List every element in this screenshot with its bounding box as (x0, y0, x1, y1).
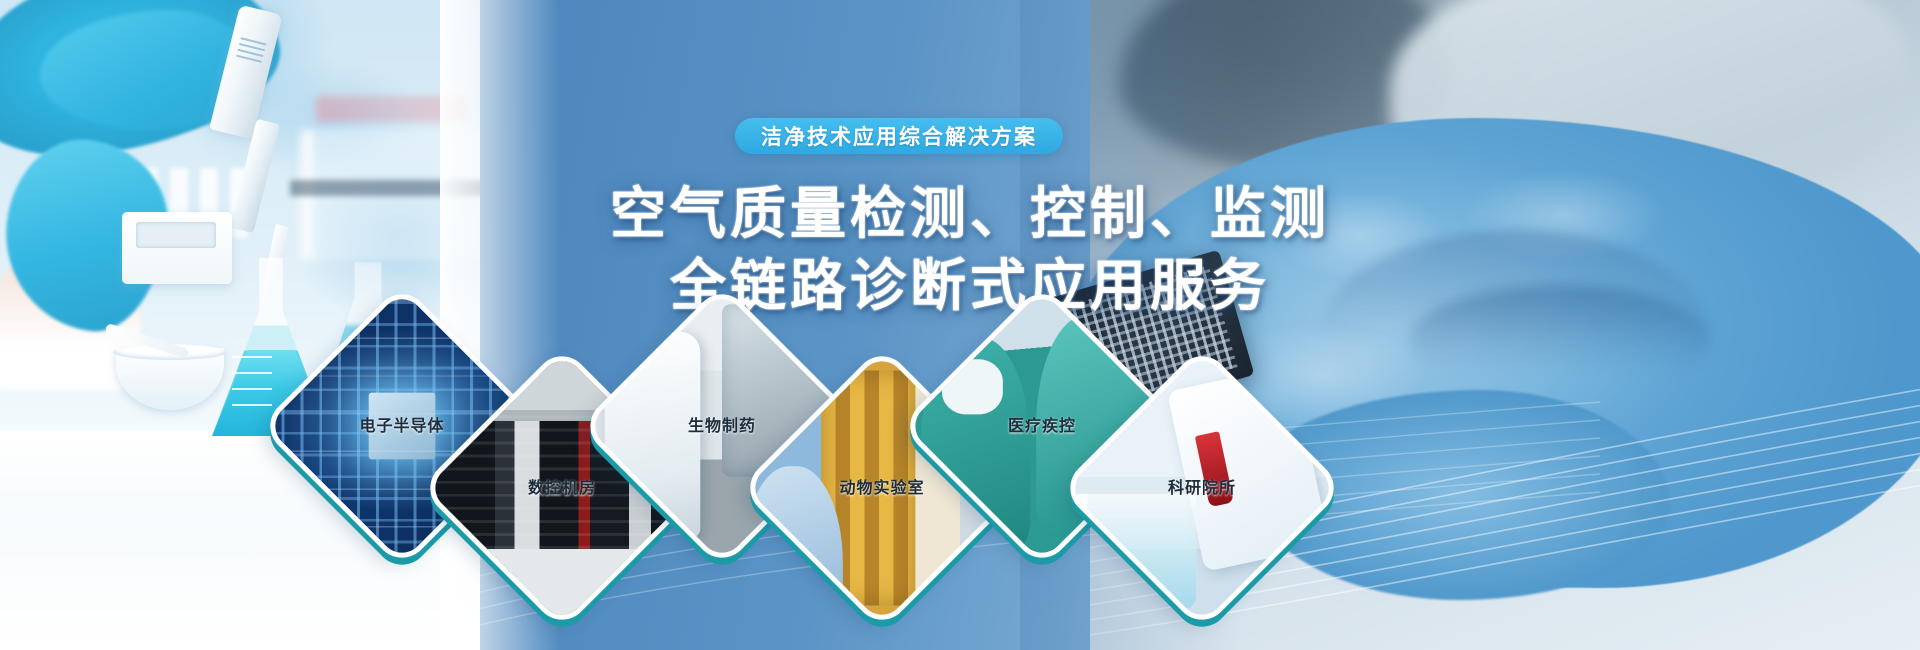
card-label-data-center: 数控机房 (462, 474, 662, 498)
card-label-animal-lab: 动物实验室 (782, 474, 982, 498)
card-label-research-institute: 科研院所 (1102, 474, 1302, 498)
surgical-mask-art (942, 359, 1003, 415)
glassware-art (1074, 494, 1196, 611)
card-label-biopharma: 生物制药 (622, 412, 822, 436)
industry-card-row: 电子半导体 数控机房 生物制药 动物实验室 医疗疾控 (0, 0, 1920, 650)
card-label-semiconductor: 电子半导体 (302, 412, 502, 436)
card-label-medical: 医疗疾控 (942, 412, 1142, 436)
hero-banner: 洁净技术应用综合解决方案 空气质量检测、控制、监测 全链路诊断式应用服务 电子半… (0, 0, 1920, 650)
